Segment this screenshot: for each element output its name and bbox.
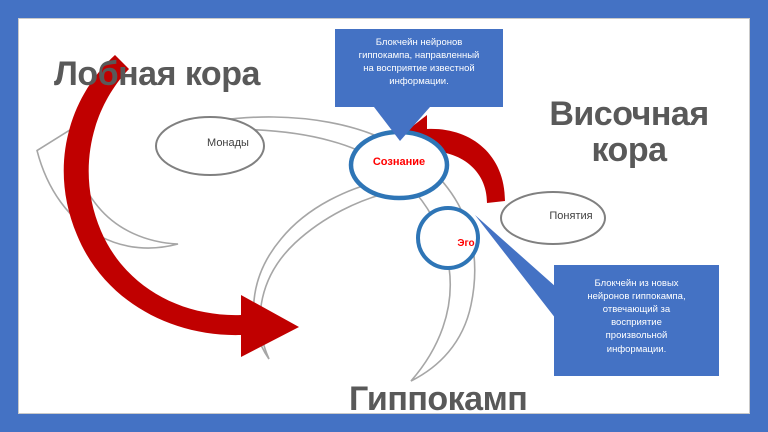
node-label-ponyatiya: Понятия	[527, 210, 615, 222]
callout-arbitrary-information[interactable]: Блокчейн из новых нейронов гиппокампа, о…	[554, 265, 719, 376]
node-label-soznanie: Сознание	[354, 156, 444, 168]
heading-frontal-cortex: Лобная кора	[54, 57, 260, 93]
callout-bottom-line-6: информации.	[564, 343, 709, 356]
node-label-ego: Эго	[442, 238, 490, 249]
heading-temporal-cortex: Височная кора	[524, 97, 734, 168]
callout-top-line-3: на восприятие известной	[344, 62, 494, 75]
callout-top-line-1: Блокчейн нейронов	[344, 36, 494, 49]
slide-content-area: Лобная кора Височная кора Гиппокамп Блок…	[18, 18, 750, 414]
slide-canvas: Лобная кора Височная кора Гиппокамп Блок…	[0, 0, 768, 432]
callout-bottom-line-5: произвольной	[564, 329, 709, 342]
callout-top-line-2: гиппокампа, направленный	[344, 49, 494, 62]
callout-bottom-line-2: нейронов гиппокампа,	[564, 290, 709, 303]
heading-hippocampus: Гиппокамп	[349, 382, 527, 414]
big-red-loop-arrow	[64, 55, 299, 357]
node-label-monady: Монады	[182, 137, 274, 149]
callout-bottom-line-1: Блокчейн из новых	[564, 277, 709, 290]
callout-bottom-line-4: восприятие	[564, 316, 709, 329]
callout-bottom-line-3: отвечающий за	[564, 303, 709, 316]
callout-known-information[interactable]: Блокчейн нейронов гиппокампа, направленн…	[335, 29, 503, 107]
callout-top-line-4: информации.	[344, 75, 494, 88]
